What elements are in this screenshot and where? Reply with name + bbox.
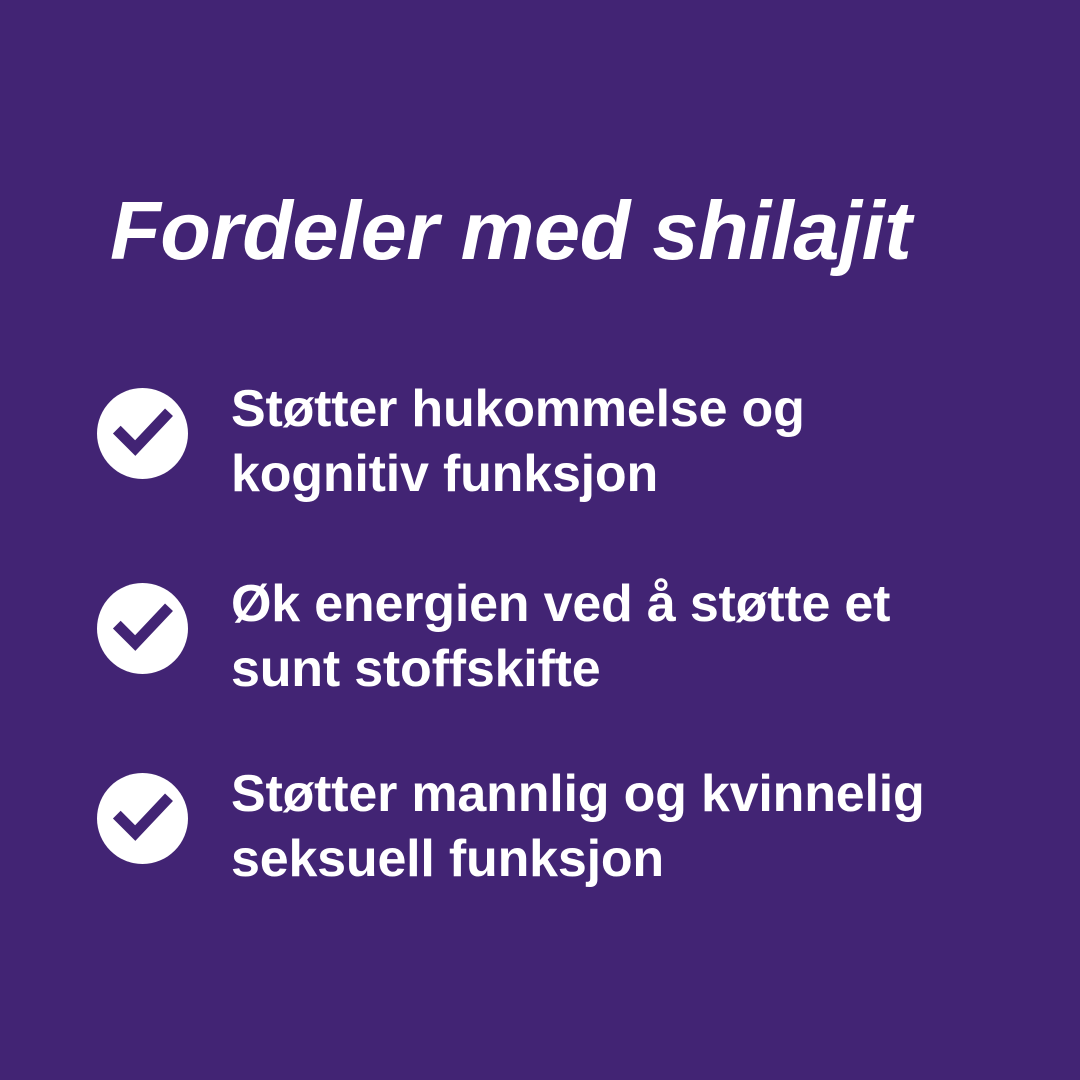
list-item-line-2: sunt stoffskifte [231, 637, 1027, 702]
list-item-text: Øk energien ved å støtte et sunt stoffsk… [231, 564, 1027, 702]
check-circle-icon [97, 773, 188, 864]
list-item-line-2: kognitiv funksjon [231, 442, 1027, 507]
list-item: Øk energien ved å støtte et sunt stoffsk… [97, 564, 1027, 702]
list-item-text: Støtter hukommelse og kognitiv funksjon [231, 369, 1027, 507]
list-item-text: Støtter mannlig og kvinnelig seksuell fu… [231, 754, 1027, 892]
list-item-line-1: Støtter mannlig og kvinnelig [231, 762, 1027, 827]
list-item: Støtter hukommelse og kognitiv funksjon [97, 369, 1027, 507]
list-item-line-1: Støtter hukommelse og [231, 377, 1027, 442]
list-item-line-2: seksuell funksjon [231, 827, 1027, 892]
list-item: Støtter mannlig og kvinnelig seksuell fu… [97, 754, 1027, 892]
check-circle-icon [97, 388, 188, 479]
check-circle-icon [97, 583, 188, 674]
page-title: Fordeler med shilajit [110, 189, 990, 272]
benefits-slide: Fordeler med shilajit Støtter hukommelse… [0, 0, 1080, 1080]
list-item-line-1: Øk energien ved å støtte et [231, 572, 1027, 637]
